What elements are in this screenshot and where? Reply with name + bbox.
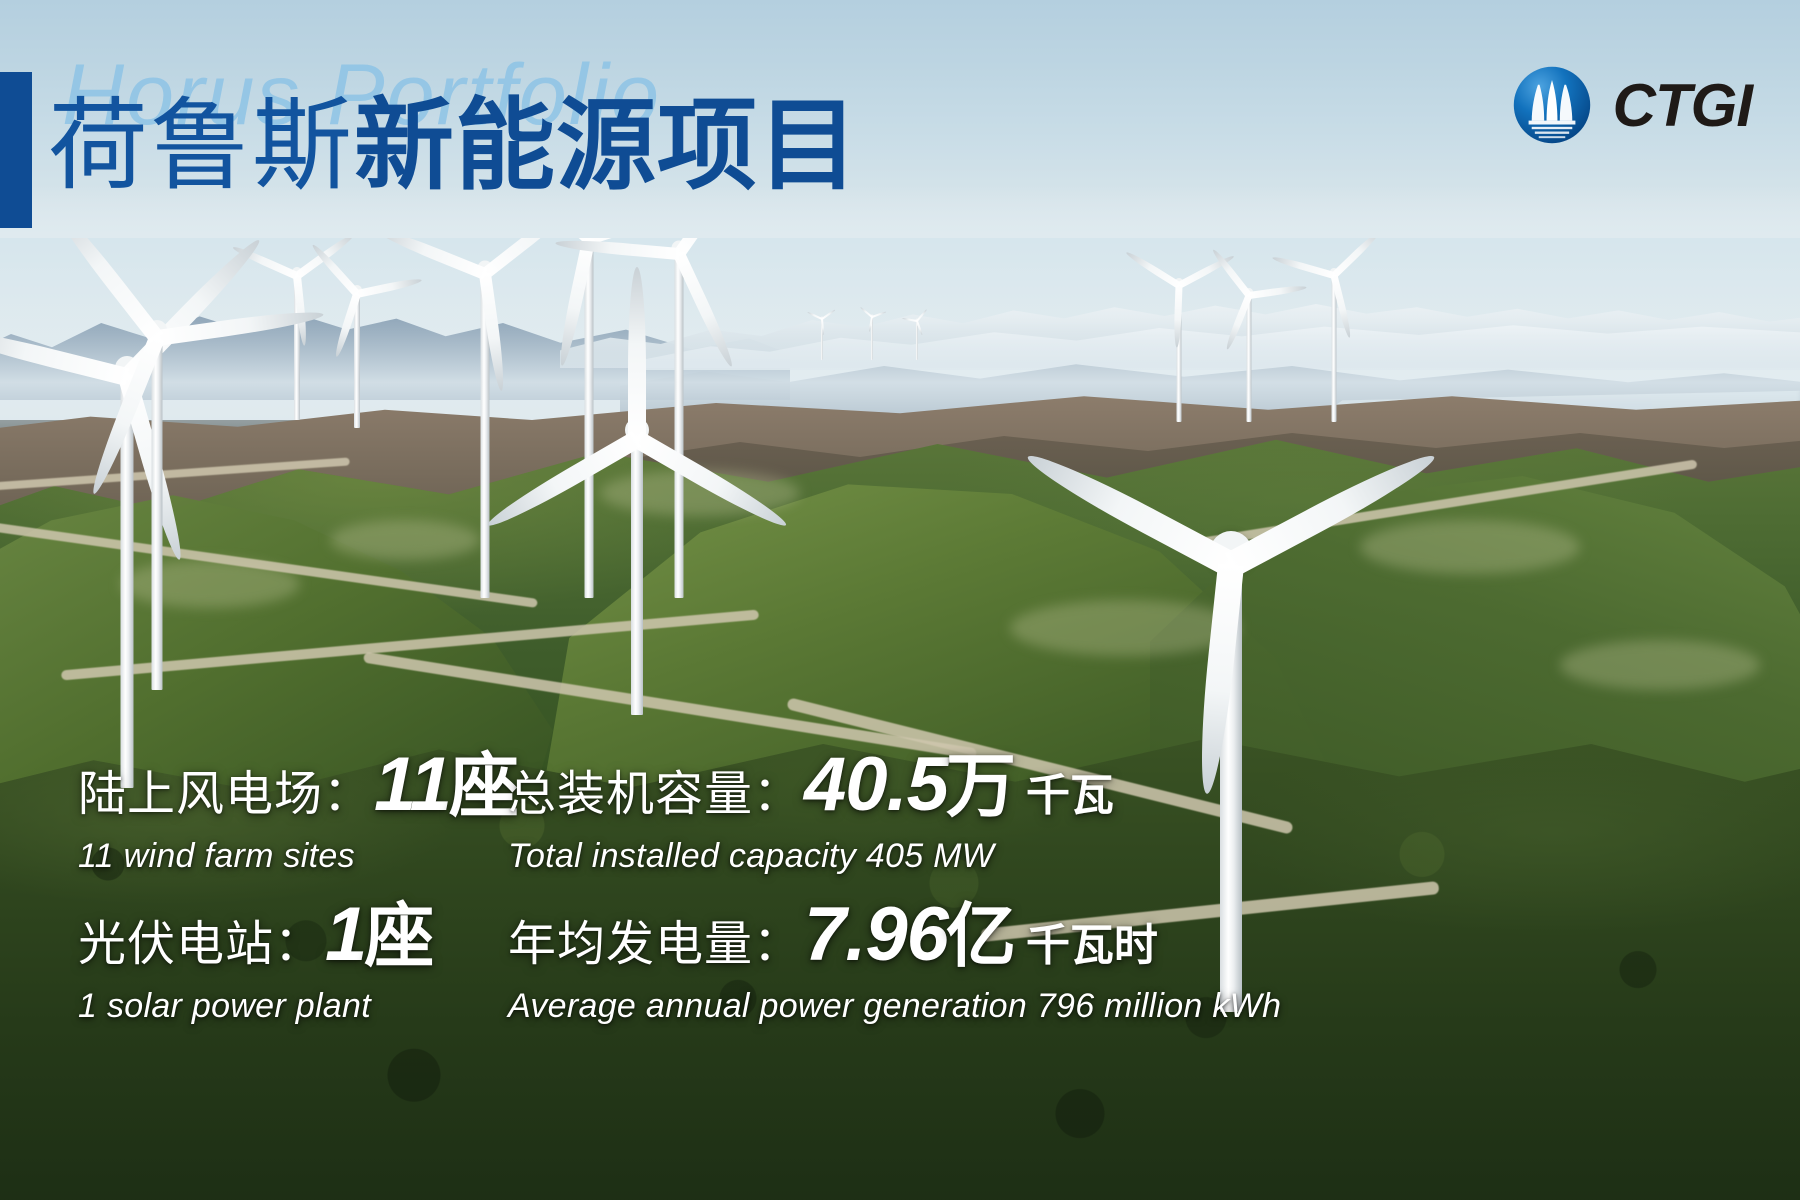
wind-turbine-center-c: [672, 248, 686, 598]
wind-turbine-center-a: [478, 268, 492, 598]
stat-english-caption: Total installed capacity 405 MW: [508, 837, 1114, 876]
page-title-light: 荷鲁斯: [48, 87, 354, 204]
rocky-patch: [1560, 640, 1760, 690]
page-title: 荷鲁斯新能源项目: [48, 96, 859, 196]
stat-unit: 座: [364, 880, 434, 981]
rocky-patch: [330, 520, 480, 560]
stat-english-caption: Average annual power generation 796 mill…: [508, 987, 1281, 1026]
stat-block-average-annual-generation: 年均发电量： 7.96 亿 千瓦时 Average annual power g…: [508, 880, 1281, 1026]
wind-turbine-left-second: [148, 330, 166, 690]
stat-value: 40.5: [804, 741, 948, 828]
stat-block-onshore-wind-farms: 陆上风电场： 11 座 11 wind farm sites: [78, 730, 519, 876]
header-band: Horus Portfolio 荷鲁斯新能源项目: [0, 0, 1800, 238]
ctgi-dam-logo-icon: [1513, 66, 1591, 144]
stat-headline: 总装机容量： 40.5 万 千瓦: [508, 730, 1114, 831]
wind-turbine-mid-right: [1175, 282, 1183, 422]
wind-turbine-left-small: [352, 290, 361, 428]
stat-headline: 光伏电站： 1 座: [78, 880, 434, 981]
wind-turbine-center-tall: [626, 430, 648, 715]
wind-turbine-left-small: [292, 272, 301, 420]
wind-turbine-mid-right: [1245, 292, 1253, 422]
stat-unit: 亿: [946, 880, 1016, 981]
stat-label: 总装机容量：: [508, 754, 802, 824]
stat-headline: 年均发电量： 7.96 亿 千瓦时: [508, 880, 1281, 981]
wind-turbine-distant: [915, 320, 918, 360]
wind-turbine-center-b: [582, 232, 596, 598]
stat-headline: 陆上风电场： 11 座: [78, 730, 519, 831]
stat-unit-small: 千瓦: [1026, 759, 1114, 823]
wind-turbine-mid-right: [1330, 272, 1338, 422]
stat-label: 年均发电量：: [508, 904, 802, 974]
stat-value: 7.96: [804, 891, 948, 978]
wind-turbine-distant: [820, 318, 823, 360]
stat-label: 光伏电站：: [78, 904, 323, 974]
accent-bar: [0, 72, 32, 228]
stat-block-solar-power-plant: 光伏电站： 1 座 1 solar power plant: [78, 880, 434, 1026]
wind-turbine-distant: [870, 316, 873, 360]
stat-english-caption: 1 solar power plant: [78, 987, 434, 1026]
stat-unit-small: 千瓦时: [1026, 909, 1158, 973]
stat-block-total-installed-capacity: 总装机容量： 40.5 万 千瓦 Total installed capacit…: [508, 730, 1114, 876]
stat-value: 11: [374, 741, 451, 828]
stat-english-caption: 11 wind farm sites: [78, 837, 519, 876]
infographic-poster: Horus Portfolio 荷鲁斯新能源项目: [0, 0, 1800, 1200]
stat-label: 陆上风电场：: [78, 754, 372, 824]
stat-value: 1: [325, 891, 366, 978]
page-title-bold: 新能源项目: [354, 87, 859, 204]
stat-unit: 万: [946, 730, 1016, 831]
rocky-patch: [1010, 600, 1240, 656]
brand-lockup: CTGI: [1513, 66, 1752, 144]
rocky-patch: [1360, 520, 1580, 574]
brand-name: CTGI: [1613, 71, 1752, 140]
